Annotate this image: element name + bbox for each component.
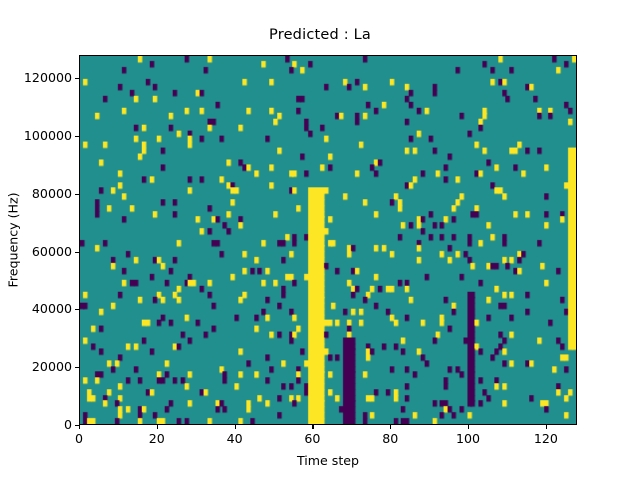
x-tick-label: 60 [272,431,352,446]
x-tick-mark [468,425,469,429]
x-tick-label: 120 [506,431,586,446]
x-tick-mark [390,425,391,429]
y-tick-mark [75,78,79,79]
y-tick-mark [75,367,79,368]
y-tick-label: 20000 [0,359,72,374]
y-tick-label: 0 [0,417,72,432]
x-tick-label: 40 [195,431,275,446]
y-tick-mark [75,425,79,426]
x-tick-mark [235,425,236,429]
x-tick-mark [79,425,80,429]
y-axis-label: Frequency (Hz) [6,193,21,288]
x-tick-mark [546,425,547,429]
heatmap-axes [79,55,577,425]
x-tick-label: 80 [350,431,430,446]
x-tick-mark [157,425,158,429]
chart-title: Predicted : La [0,27,640,43]
x-tick-label: 100 [428,431,508,446]
y-tick-label: 120000 [0,70,72,85]
y-tick-mark [75,194,79,195]
x-tick-mark [312,425,313,429]
x-tick-label: 20 [117,431,197,446]
y-tick-mark [75,136,79,137]
x-axis-label: Time step [79,453,577,468]
y-tick-mark [75,252,79,253]
matplotlib-figure: Predicted : La 020406080100120 020000400… [0,0,640,480]
y-tick-mark [75,309,79,310]
heatmap-image [80,56,576,424]
y-tick-label: 100000 [0,128,72,143]
x-tick-label: 0 [39,431,119,446]
y-tick-label: 40000 [0,301,72,316]
